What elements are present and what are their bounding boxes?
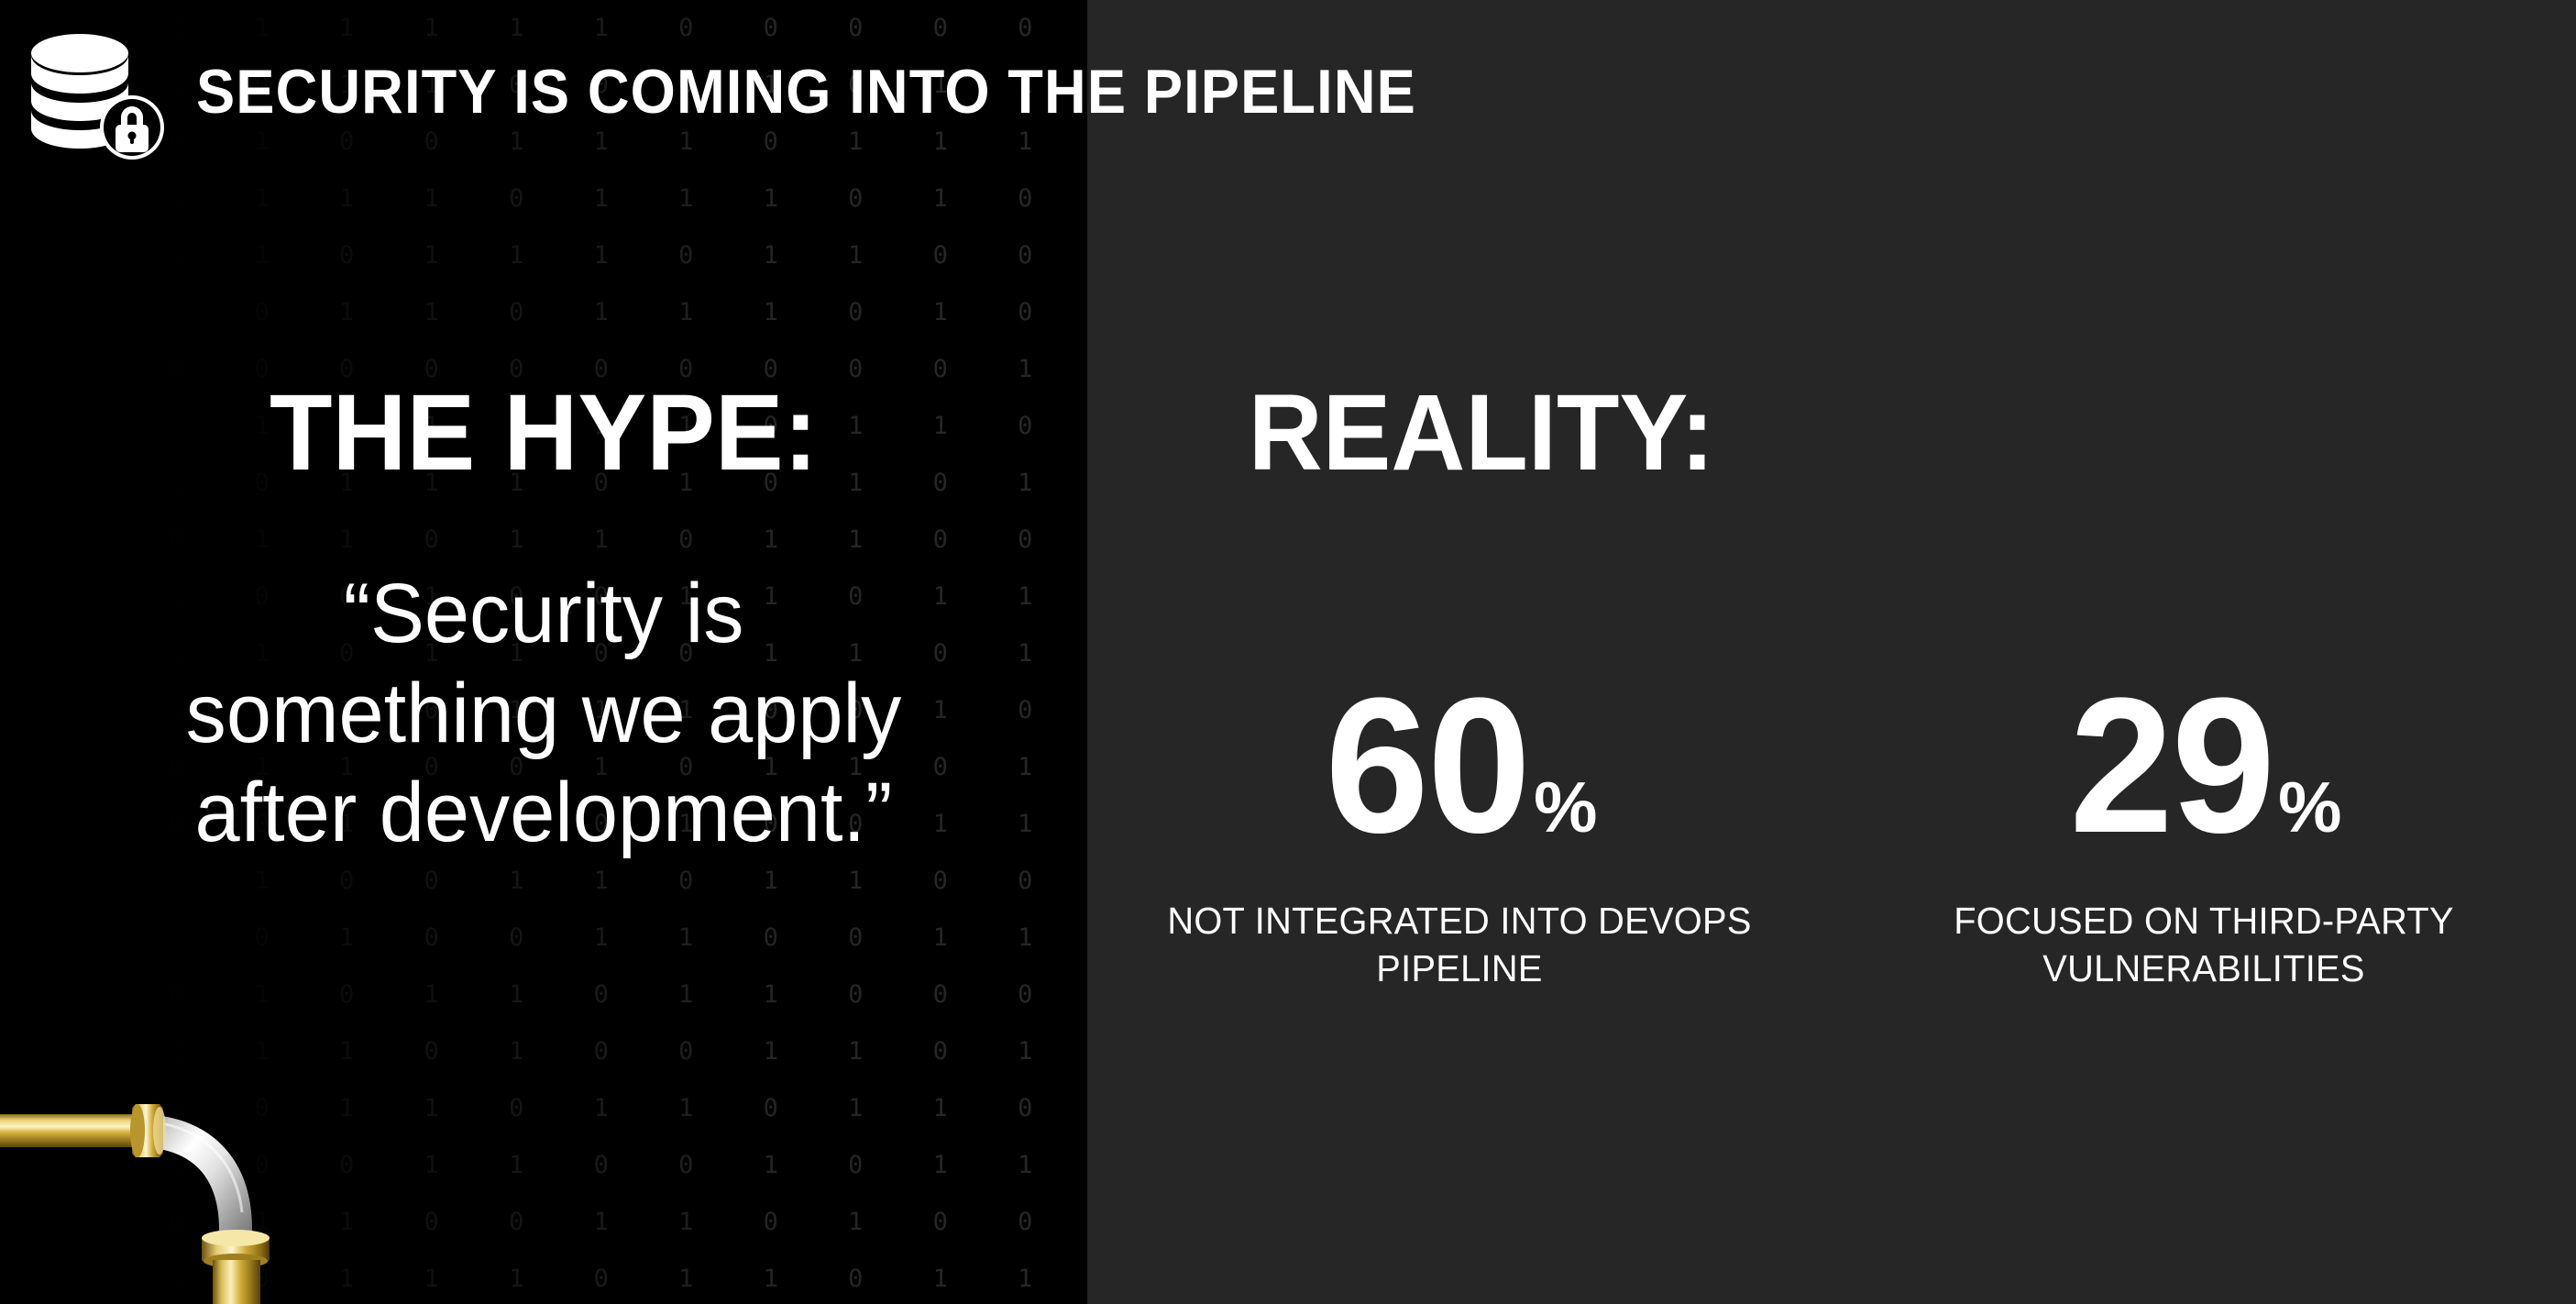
stat-value: 60 [1325, 669, 1529, 862]
stat-percent-sign: % [1534, 771, 1597, 843]
stat-value-group: 60% [1124, 669, 1795, 862]
stat-value: 29 [2069, 669, 2273, 862]
slide-canvas: 1 1 1 1 1 1 1 1 0 0 0 0 0 1 1 0 1 0 0 1 … [0, 0, 2576, 1304]
binary-row: 0 1 1 0 0 1 1 0 0 1 0 1 1 0 1 0 0 1 1 1 … [0, 1137, 1087, 1194]
hype-quote-line-1: “Security is [127, 564, 960, 664]
binary-row: 1 0 0 0 1 1 0 1 1 0 1 1 0 1 0 1 1 0 0 1 … [0, 1080, 1087, 1137]
hype-block: THE HYPE: “Security is something we appl… [0, 376, 1087, 863]
stat-percent-sign: % [2278, 771, 2341, 843]
hype-quote-line-2: something we apply [127, 664, 960, 764]
binary-row: 1 1 0 1 0 1 1 0 1 1 0 0 0 1 0 1 1 0 1 1 … [0, 967, 1087, 1023]
page-title: SECURITY IS COMING INTO THE PIPELINE [196, 61, 1416, 123]
hype-heading: THE HYPE: [28, 376, 1061, 491]
binary-row: 1 1 1 1 0 1 1 1 0 1 1 0 0 1 0 1 1 0 1 1 … [0, 227, 1087, 284]
right-panel [1087, 0, 2576, 1304]
binary-row: 0 1 1 0 1 0 0 1 1 0 0 1 1 0 1 1 0 1 0 0 … [0, 910, 1087, 967]
binary-row: 1 1 0 1 1 0 0 1 1 0 1 0 0 1 1 0 1 1 0 0 … [0, 1194, 1087, 1251]
stats-row: 60% NOT INTEGRATED INTO DEVOPS PIPELINE … [1087, 669, 2576, 993]
binary-row: 0 0 1 0 1 1 1 0 1 1 0 1 1 0 0 1 0 0 1 1 … [0, 1251, 1087, 1304]
stat-value-group: 29% [1868, 669, 2539, 862]
binary-row: 0 0 1 1 1 0 1 0 0 1 1 0 1 0 1 0 0 1 1 0 … [0, 1023, 1087, 1080]
slide-header: SECURITY IS COMING INTO THE PIPELINE [0, 0, 2576, 183]
hype-quote: “Security is something we apply after de… [22, 564, 1066, 863]
stat-caption: FOCUSED ON THIRD-PARTY VULNERABILITIES [1893, 897, 2515, 993]
binary-row: 1 1 1 0 1 1 0 1 1 1 0 1 0 0 1 0 1 1 0 0 … [0, 284, 1087, 341]
hype-quote-line-3: after development.” [127, 763, 960, 863]
database-lock-icon [20, 26, 176, 163]
stat-caption: NOT INTEGRATED INTO DEVOPS PIPELINE [1149, 897, 1771, 993]
reality-heading: REALITY: [1107, 376, 1856, 491]
stat-card: 29% FOCUSED ON THIRD-PARTY VULNERABILITI… [1832, 669, 2576, 993]
stat-card: 60% NOT INTEGRATED INTO DEVOPS PIPELINE [1087, 669, 1832, 993]
